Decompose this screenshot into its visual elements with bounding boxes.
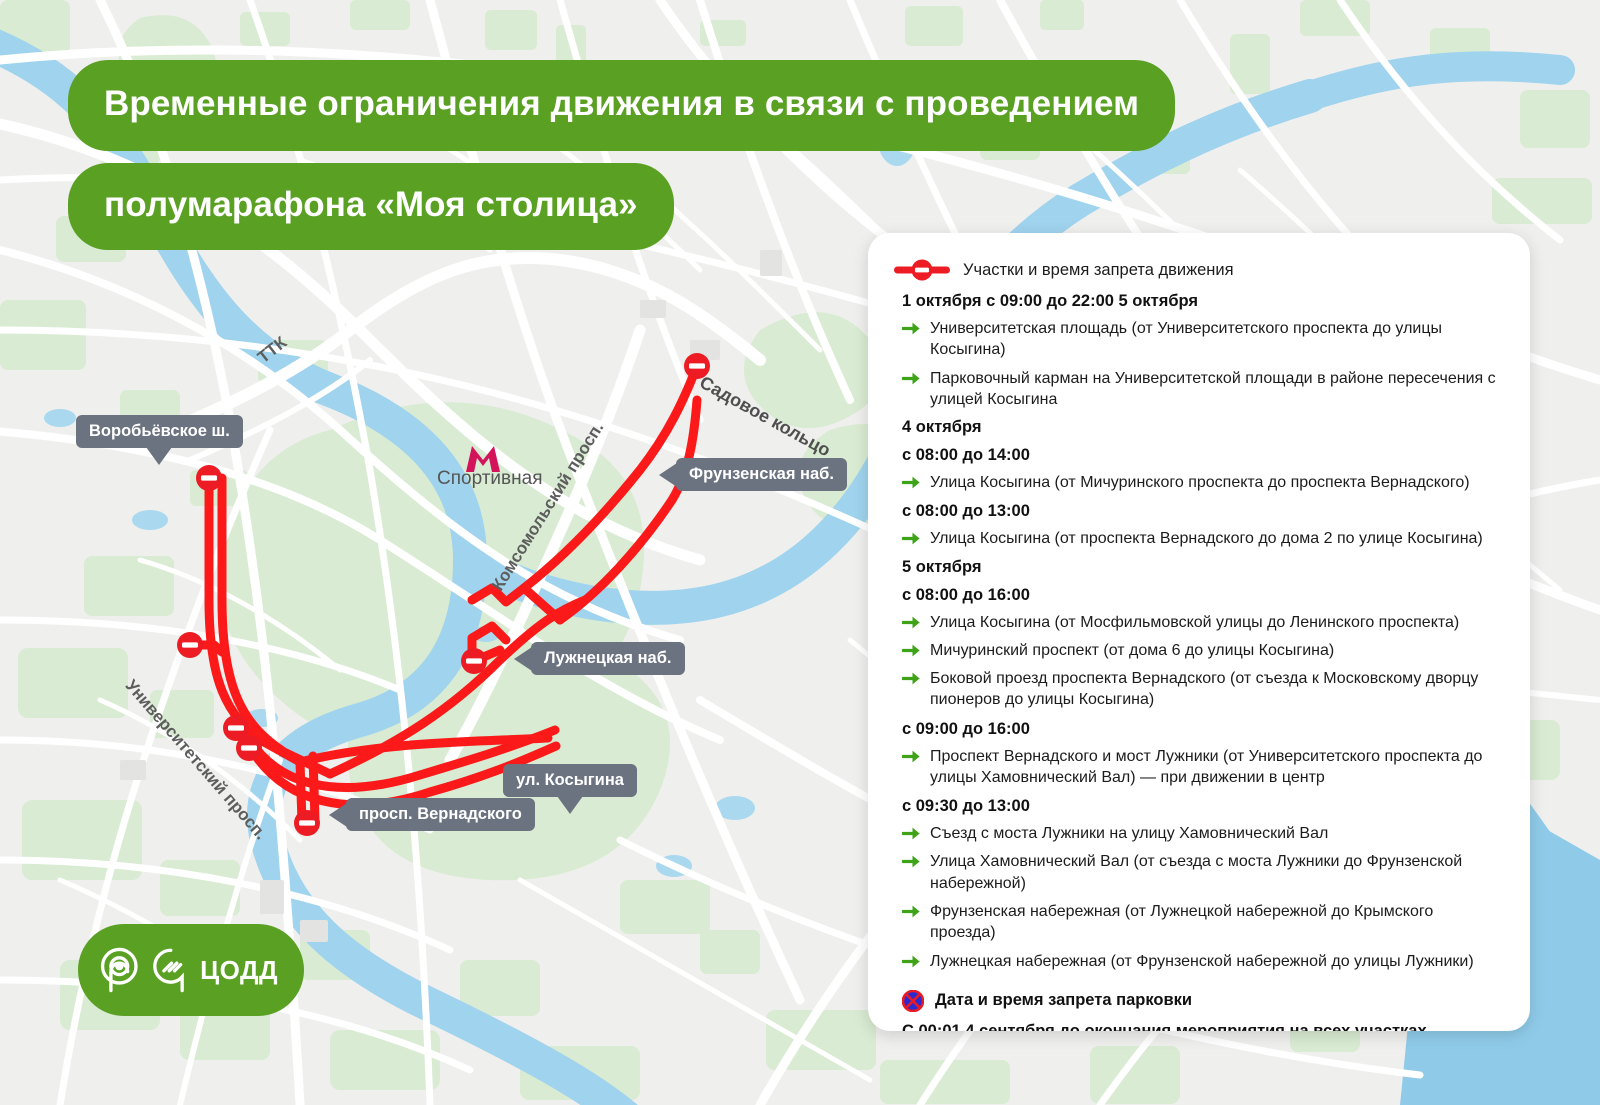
green-arrow-icon [902,671,921,686]
green-arrow-icon [902,321,921,336]
section-date-heading: 1 октября с 09:00 до 22:00 5 октября [902,292,1500,311]
chip-prospekt-vernadskogo[interactable]: просп. Вернадского [346,798,535,831]
codd-logo[interactable]: ЦОДД [78,924,304,1016]
chip-ulica-kosygina[interactable]: ул. Косыгина [503,764,637,797]
green-arrow-icon [902,475,921,490]
green-arrow-icon [902,643,921,658]
legend-row: Участки и время запрета движения [894,259,1500,281]
restriction-item-text: Парковочный карман на Университетской пл… [930,368,1500,411]
green-arrow-icon [902,371,921,386]
restriction-item-text: Улица Косыгина (от Мичуринского проспект… [930,472,1500,493]
restrictions-panel: Участки и время запрета движения 1 октяб… [868,233,1530,1031]
codd-pin-lines-icon [151,939,191,1001]
codd-label: ЦОДД [200,955,278,986]
restriction-sections: 1 октября с 09:00 до 22:00 5 октябряУнив… [894,292,1500,972]
restriction-item: Мичуринский проспект (от дома 6 до улицы… [902,640,1500,661]
restriction-item-text: Боковой проезд проспекта Вернадского (от… [930,668,1500,711]
green-arrow-icon [902,826,921,841]
restriction-item: Улица Косыгина (от проспекта Вернадского… [902,528,1500,549]
restriction-item-text: Фрунзенская набережная (от Лужнецкой наб… [930,901,1500,944]
chip-label: Лужнецкая наб. [544,649,672,667]
parking-note: С 00:01 4 сентября до окончания мероприя… [902,1020,1462,1031]
restriction-item-text: Мичуринский проспект (от дома 6 до улицы… [930,640,1500,661]
chip-label: Воробьёвское ш. [89,422,230,440]
infographic-root: ТТК Комсомольский просп. Университетский… [0,0,1600,1105]
green-arrow-icon [902,749,921,764]
restriction-item-text: Лужнецкая набережная (от Фрунзенской наб… [930,951,1500,972]
chip-tail [659,463,677,487]
restriction-item: Фрунзенская набережная (от Лужнецкой наб… [902,901,1500,944]
restriction-item: Улица Хамовнический Вал (от съезда с мос… [902,851,1500,894]
green-arrow-icon [902,615,921,630]
green-arrow-icon [902,531,921,546]
restriction-item-text: Университетская площадь (от Университетс… [930,318,1500,361]
restriction-item: Боковой проезд проспекта Вернадского (от… [902,668,1500,711]
restriction-item: Улица Косыгина (от Мичуринского проспект… [902,472,1500,493]
restriction-item-text: Проспект Вернадского и мост Лужники (от … [930,746,1500,789]
no-parking-icon [902,990,924,1012]
chip-label: Фрунзенская наб. [689,465,834,483]
restriction-item-text: Улица Хамовнический Вал (от съезда с мос… [930,851,1500,894]
restriction-item: Парковочный карман на Университетской пл… [902,368,1500,411]
chip-vorobyovskoe-shosse[interactable]: Воробьёвское ш. [76,415,243,448]
section-date-heading: 4 октября [902,418,1500,437]
chip-tail [329,803,347,827]
chip-tail [557,796,583,814]
chip-label: ул. Косыгина [516,771,624,789]
section-time-heading: с 09:30 до 13:00 [902,797,1500,816]
section-time-heading: с 09:00 до 16:00 [902,720,1500,739]
restriction-item-text: Улица Косыгина (от Мосфильмовской улицы … [930,612,1500,633]
green-arrow-icon [902,954,921,969]
green-arrow-icon [902,904,921,919]
green-arrow-icon [902,854,921,869]
title-line-2: полумарафона «Моя столица» [68,163,674,250]
restriction-item: Лужнецкая набережная (от Фрунзенской наб… [902,951,1500,972]
section-time-heading: с 08:00 до 13:00 [902,502,1500,521]
legend-label: Участки и время запрета движения [963,261,1234,280]
codd-pin-rings-icon [98,939,141,1001]
parking-legend-label: Дата и время запрета парковки [935,991,1192,1010]
restriction-item: Проспект Вернадского и мост Лужники (от … [902,746,1500,789]
chip-tail [514,647,532,671]
restriction-item: Съезд с моста Лужники на улицу Хамовниче… [902,823,1500,844]
section-date-heading: 5 октября [902,558,1500,577]
title-line-1: Временные ограничения движения в связи с… [68,60,1175,151]
section-time-heading: с 08:00 до 14:00 [902,446,1500,465]
parking-legend-row: Дата и время запрета парковки [902,990,1500,1012]
restriction-item: Университетская площадь (от Университетс… [902,318,1500,361]
section-time-heading: с 08:00 до 16:00 [902,586,1500,605]
chip-frunzenskaya-naberezhnaya[interactable]: Фрунзенская наб. [676,458,847,491]
no-entry-icon [894,259,950,281]
chip-luzhnetskaya-naberezhnaya[interactable]: Лужнецкая наб. [531,642,685,675]
restriction-item: Улица Косыгина (от Мосфильмовской улицы … [902,612,1500,633]
title-block: Временные ограничения движения в связи с… [68,60,1175,250]
chip-tail [146,447,172,465]
restriction-item-text: Улица Косыгина (от проспекта Вернадского… [930,528,1500,549]
metro-station-label: Спортивная [437,468,542,490]
chip-label: просп. Вернадского [359,805,522,823]
restriction-item-text: Съезд с моста Лужники на улицу Хамовниче… [930,823,1500,844]
